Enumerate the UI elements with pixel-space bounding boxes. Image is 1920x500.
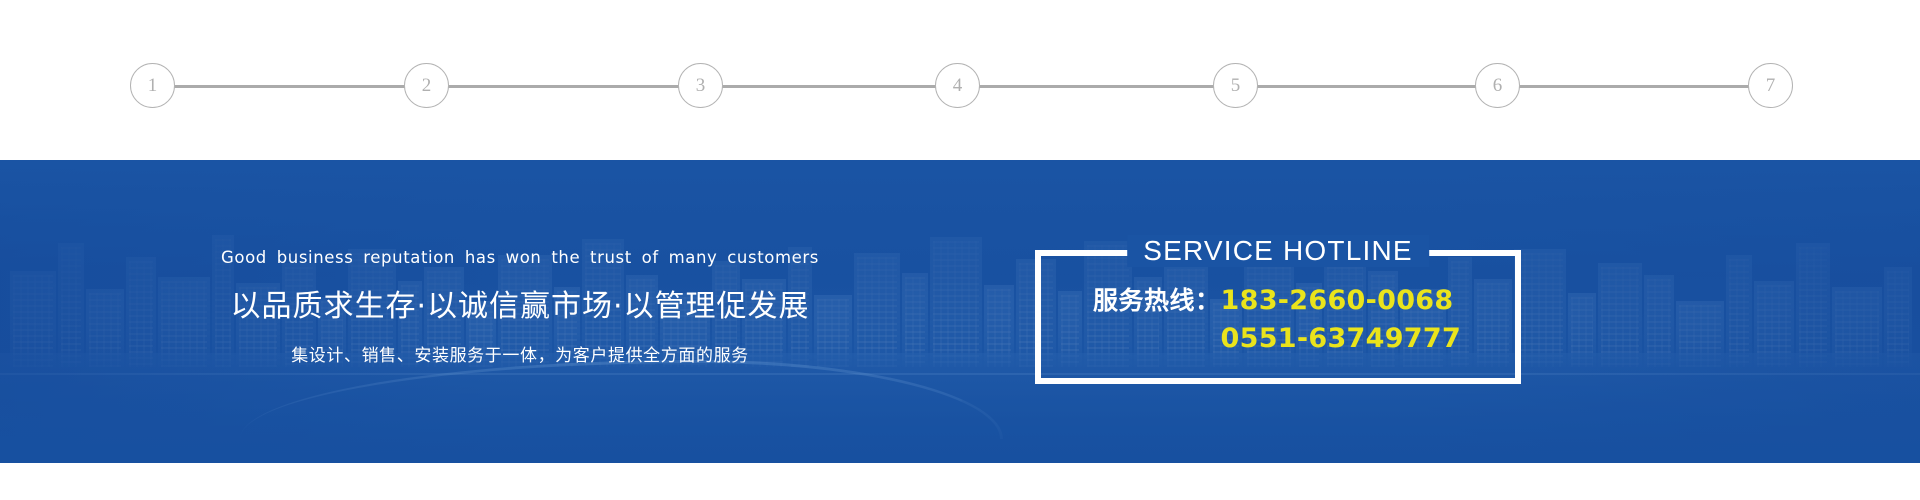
hotline-phone-secondary[interactable]: 0551-63749777 — [1221, 320, 1462, 358]
hotline-phone-primary[interactable]: 183-2660-0068 — [1221, 282, 1454, 320]
step-node-5-label: 5 — [1231, 76, 1241, 96]
step-node-5[interactable]: 5 — [1213, 63, 1258, 108]
hotline-row-primary: 服务热线： 183-2660-0068 — [1041, 282, 1515, 320]
hotline-row-secondary: 服务热线： 0551-63749777 — [1041, 320, 1515, 358]
slogan-block: Good business reputation has won the tru… — [0, 248, 1040, 366]
slogan-chinese-subline: 集设计、销售、安装服务于一体，为客户提供全方面的服务 — [0, 341, 1040, 366]
step-node-2-label: 2 — [422, 76, 432, 96]
page-root: 1 2 3 4 5 6 7 — [0, 0, 1920, 500]
step-node-4[interactable]: 4 — [935, 63, 980, 108]
step-node-6-label: 6 — [1493, 76, 1503, 96]
step-node-1[interactable]: 1 — [130, 63, 175, 108]
service-hotline-box: SERVICE HOTLINE 服务热线： 183-2660-0068 服务热线… — [1035, 250, 1521, 384]
service-hotline-title: SERVICE HOTLINE — [1127, 235, 1429, 267]
step-node-6[interactable]: 6 — [1475, 63, 1520, 108]
bottom-white-strip — [0, 463, 1920, 500]
slogan-chinese-headline: 以品质求生存·以诚信赢市场·以管理促发展 — [0, 281, 1040, 325]
step-node-3-label: 3 — [696, 76, 706, 96]
road-silhouette-decoration — [0, 353, 1920, 463]
step-node-2[interactable]: 2 — [404, 63, 449, 108]
step-node-4-label: 4 — [953, 76, 963, 96]
hotline-label: 服务热线： — [1093, 283, 1221, 319]
step-node-7-label: 7 — [1766, 76, 1776, 96]
step-node-7[interactable]: 7 — [1748, 63, 1793, 108]
step-progress-bar: 1 2 3 4 5 6 7 — [0, 0, 1920, 160]
step-node-3[interactable]: 3 — [678, 63, 723, 108]
step-node-1-label: 1 — [148, 76, 158, 96]
slogan-english-line: Good business reputation has won the tru… — [0, 248, 1040, 267]
hotline-rows: 服务热线： 183-2660-0068 服务热线： 0551-63749777 — [1041, 282, 1515, 359]
promo-banner: Good business reputation has won the tru… — [0, 160, 1920, 463]
